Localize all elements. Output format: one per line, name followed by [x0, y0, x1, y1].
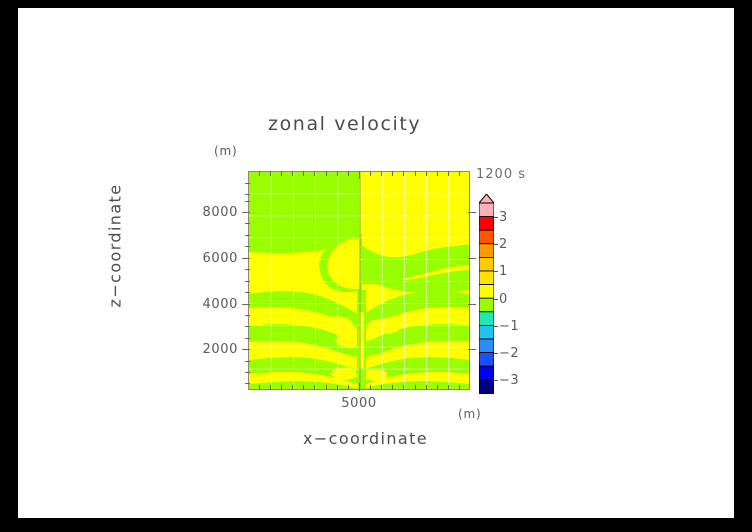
y-tick-right	[468, 304, 476, 305]
x-axis-title: x−coordinate	[303, 429, 428, 448]
contour-field	[249, 172, 470, 390]
colorbar-swatches	[479, 194, 494, 394]
figure-frame: zonal velocity (m) 1200 s (m) x−coordina…	[0, 0, 752, 532]
colorbar-tick-3	[494, 217, 498, 218]
y-tick-minor	[245, 223, 250, 224]
x-tick-minor	[415, 385, 416, 390]
x-tick-minor	[259, 385, 260, 390]
y-axis-label-6000: 6000	[178, 251, 238, 266]
x-tick-minor	[392, 385, 393, 390]
x-tick-minor	[448, 385, 449, 390]
x-tick-minor	[403, 385, 404, 390]
x-tick-top-minor	[403, 171, 404, 176]
x-tick-minor	[437, 385, 438, 390]
y-tick-minor	[245, 292, 250, 293]
colorbar-label-neg3: −3	[499, 373, 519, 388]
x-tick-5000	[359, 383, 360, 391]
x-tick-top-minor	[337, 171, 338, 176]
x-tick-minor	[292, 385, 293, 390]
x-tick-top-minor	[459, 171, 460, 176]
y-tick-minor	[245, 372, 250, 373]
y-tick-right	[468, 212, 476, 213]
y-tick-6000	[242, 258, 250, 259]
y-tick-minor	[245, 383, 250, 384]
colorbar-label-1: 1	[499, 264, 508, 279]
y-tick-right	[468, 258, 476, 259]
x-tick-top-minor	[348, 171, 349, 176]
y-tick-minor	[245, 326, 250, 327]
y-tick-8000	[242, 212, 250, 213]
colorbar-tick-neg2	[494, 353, 498, 354]
x-tick-top-minor	[292, 171, 293, 176]
y-tick-2000	[242, 349, 250, 350]
page-title: zonal velocity	[268, 113, 421, 135]
y-tick-minor	[245, 269, 250, 270]
y-axis-label-8000: 8000	[178, 205, 238, 220]
y-tick-minor	[245, 361, 250, 362]
y-axis-label-2000: 2000	[178, 342, 238, 357]
x-tick-top-minor	[370, 171, 371, 176]
y-tick-right	[468, 349, 476, 350]
x-tick-minor	[270, 385, 271, 390]
y-tick-minor	[245, 281, 250, 282]
x-tick-top-minor	[303, 171, 304, 176]
y-tick-minor	[245, 246, 250, 247]
colorbar-tick-1	[494, 271, 498, 272]
x-tick-minor	[348, 385, 349, 390]
y-axis-label-4000: 4000	[178, 297, 238, 312]
x-tick-top-minor	[281, 171, 282, 176]
x-tick-top-minor	[270, 171, 271, 176]
x-tick-minor	[381, 385, 382, 390]
x-tick-top-minor	[259, 171, 260, 176]
y-tick-minor	[245, 235, 250, 236]
x-tick-minor	[337, 385, 338, 390]
colorbar-tick-2	[494, 244, 498, 245]
x-tick-top-minor	[426, 171, 427, 176]
contour-plot-area	[248, 171, 470, 390]
y-tick-minor	[245, 194, 250, 195]
colorbar-tick-neg1	[494, 326, 498, 327]
colorbar-label-3: 3	[499, 210, 508, 225]
x-tick-minor	[303, 385, 304, 390]
colorbar-label-0: 0	[499, 292, 508, 307]
y-tick-minor	[245, 338, 250, 339]
x-tick-minor	[459, 385, 460, 390]
x-tick-minor	[281, 385, 282, 390]
y-tick-minor	[245, 315, 250, 316]
colorbar-tick-0	[494, 299, 498, 300]
x-tick-top-minor	[381, 171, 382, 176]
x-tick-minor	[426, 385, 427, 390]
y-tick-minor	[245, 183, 250, 184]
x-tick-top-5000	[359, 171, 360, 179]
x-tick-top-minor	[448, 171, 449, 176]
colorbar-label-2: 2	[499, 237, 508, 252]
x-tick-minor	[314, 385, 315, 390]
figure-canvas: zonal velocity (m) 1200 s (m) x−coordina…	[18, 8, 734, 518]
x-axis-unit-label: (m)	[458, 407, 481, 421]
x-tick-top-minor	[392, 171, 393, 176]
x-tick-top-minor	[314, 171, 315, 176]
y-axis-title: z−coordinate	[106, 146, 125, 346]
time-annotation: 1200 s	[476, 167, 526, 182]
x-tick-top-minor	[437, 171, 438, 176]
colorbar-tick-neg3	[494, 380, 498, 381]
x-tick-top-minor	[415, 171, 416, 176]
y-tick-4000	[242, 304, 250, 305]
x-tick-minor	[326, 385, 327, 390]
colorbar-label-neg2: −2	[499, 346, 519, 361]
x-tick-top-minor	[326, 171, 327, 176]
y-axis-unit-label: (m)	[214, 144, 237, 158]
colorbar-label-neg1: −1	[499, 319, 519, 334]
colorbar	[479, 194, 494, 394]
y-tick-minor	[245, 201, 250, 202]
x-axis-label-5000: 5000	[329, 396, 389, 411]
x-tick-minor	[370, 385, 371, 390]
